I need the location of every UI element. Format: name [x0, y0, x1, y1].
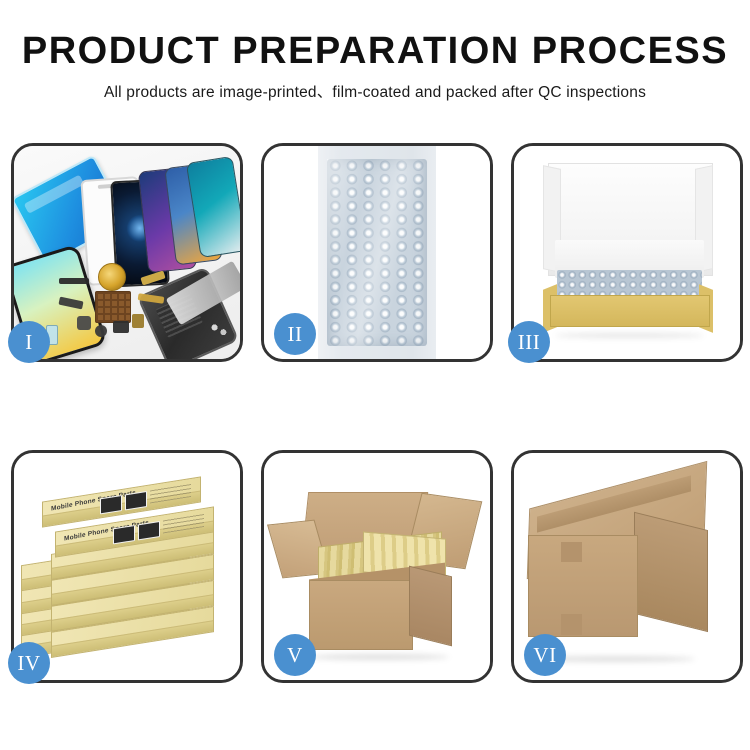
phone-print-icon — [100, 495, 122, 515]
step-panel-6: VI — [511, 450, 743, 683]
small-part-icon — [113, 321, 129, 333]
phone-print-icon — [125, 491, 147, 511]
small-part-icon — [95, 325, 107, 337]
chip-component-icon — [95, 291, 131, 323]
small-part-icon — [77, 316, 91, 330]
step-panel-4: Mobile Phone Spare Parts Mobile Phone Sp… — [11, 450, 243, 683]
step-panel-3: III — [511, 143, 743, 362]
step-panel-1: I — [11, 143, 243, 362]
page-title: PRODUCT PREPARATION PROCESS — [0, 30, 750, 72]
bubble-wrap-icon — [327, 159, 426, 346]
carton-tab — [561, 614, 581, 634]
phone-print-icon — [137, 521, 159, 541]
sealed-carton-front — [528, 535, 638, 637]
sealed-carton-side — [634, 512, 708, 632]
carton-tab — [561, 542, 581, 562]
step-badge-5: V — [274, 634, 316, 676]
page-header: PRODUCT PREPARATION PROCESS All products… — [0, 0, 750, 102]
screws-icon — [208, 321, 230, 337]
mailer-front-panel — [550, 295, 710, 327]
step-badge-6: VI — [524, 634, 566, 676]
step-badge-1: I — [8, 321, 50, 363]
flex-cable-icon — [59, 278, 89, 284]
small-part-icon — [132, 314, 144, 328]
carton-side-panel — [409, 566, 452, 647]
box-stack: Mobile Phone Spare Parts Mobile Phone Sp… — [21, 478, 233, 664]
step-badge-2: II — [274, 313, 316, 355]
process-steps-grid: I II III — [11, 143, 743, 683]
phone-print-icon — [112, 525, 134, 545]
drop-shadow — [309, 654, 449, 660]
coil-component-icon — [98, 263, 126, 291]
step-image-phone-parts — [14, 146, 240, 359]
step-image-stacked-boxes: Mobile Phone Spare Parts Mobile Phone Sp… — [14, 453, 240, 680]
step-panel-5: V — [261, 450, 493, 683]
step-badge-4: IV — [8, 642, 50, 684]
page-subtitle: All products are image-printed、film-coat… — [0, 84, 750, 102]
step-badge-3: III — [508, 321, 550, 363]
step-image-mailer-box — [514, 146, 740, 359]
step-panel-2: II — [261, 143, 493, 362]
drop-shadow — [555, 333, 704, 338]
carton-front-panel — [309, 580, 413, 650]
